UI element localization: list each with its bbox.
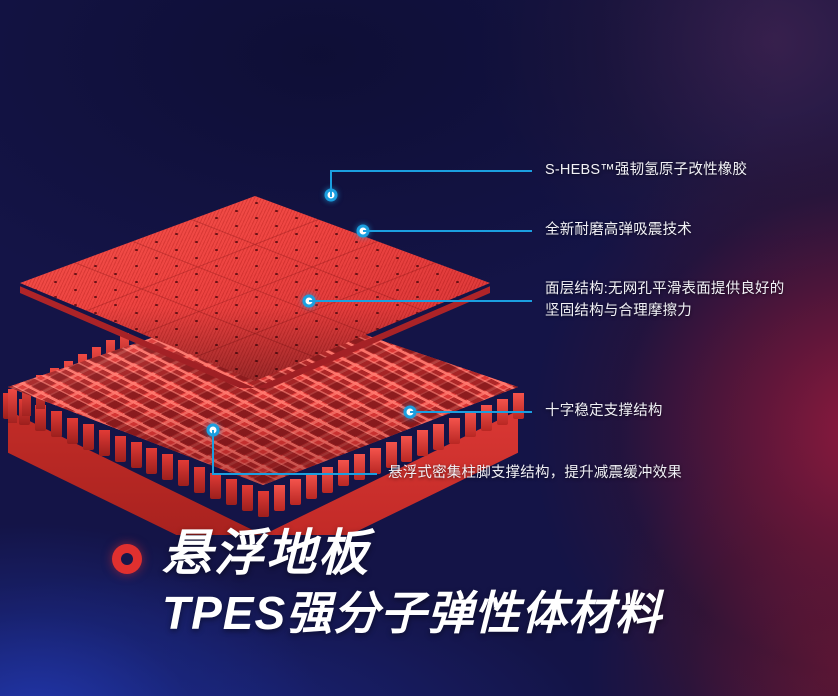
product-title: 悬浮地板 [162,528,370,578]
surface-layer-panel [20,196,490,381]
product-infographic: S-HEBS™强韧氢原子改性橡胶 全新耐磨高弹吸震技术 面层结构:无网孔平滑表面… [0,0,838,696]
callout-label-3-line1: 面层结构:无网孔平滑表面提供良好的 [545,278,835,300]
callout-line-2-horizontal [363,230,532,232]
callout-label-1: S-HEBS™强韧氢原子改性橡胶 [545,159,747,181]
callout-label-3-line2: 坚固结构与合理摩擦力 [545,300,835,322]
title-block: 悬浮地板 TPES强分子弹性体材料 [108,520,828,650]
callout-line-1-vertical [330,171,332,197]
callout-label-5: 悬浮式密集柱脚支撑结构，提升减震缓冲效果 [388,462,682,484]
product-illustration [0,0,560,520]
callout-line-1-horizontal [330,170,532,172]
callout-label-4: 十字稳定支撑结构 [545,400,663,422]
surface-panel-face [20,196,490,381]
surface-panel-edge-shadow [20,196,490,381]
callout-line-3-horizontal [309,300,532,302]
callout-line-4-horizontal [410,411,532,413]
callout-label-3: 面层结构:无网孔平滑表面提供良好的 坚固结构与合理摩擦力 [545,278,835,322]
ring-bullet-icon [112,544,142,574]
callout-line-5-vertical [212,430,214,474]
callout-label-2: 全新耐磨高弹吸震技术 [545,219,692,241]
product-subtitle: TPES强分子弹性体材料 [162,590,662,636]
callout-label-1-text: S-HEBS™强韧氢原子改性橡胶 [545,162,747,178]
callout-line-5-horizontal [212,473,377,475]
